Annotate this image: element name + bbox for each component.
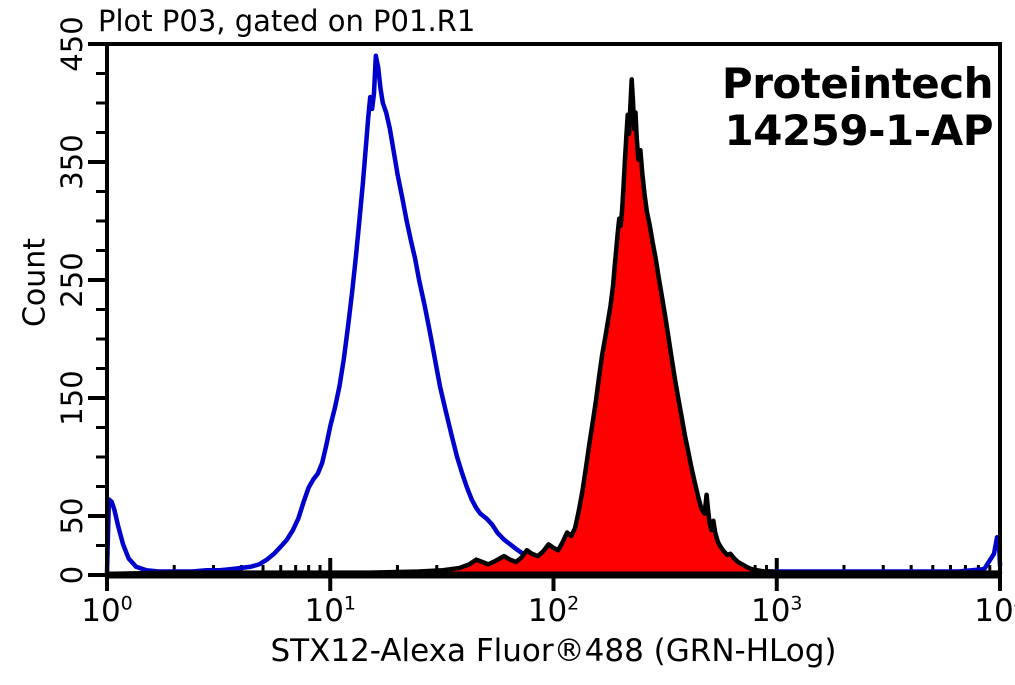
y-tick-label: 50 bbox=[55, 481, 89, 551]
y-tick-label: 450 bbox=[55, 9, 89, 79]
y-axis-label: Count bbox=[18, 223, 53, 343]
x-tick-label: 100 bbox=[62, 593, 152, 629]
x-tick-label: 101 bbox=[285, 593, 375, 629]
annotation-line-catalog: 14259-1-AP bbox=[722, 107, 993, 154]
annotation-line-brand: Proteintech bbox=[722, 60, 993, 107]
product-annotation: Proteintech 14259-1-AP bbox=[722, 60, 993, 154]
y-tick-label: 250 bbox=[55, 245, 89, 315]
flow-cytometry-histogram: Plot P03, gated on P01.R1 Count STX12-Al… bbox=[0, 0, 1015, 685]
x-tick-label: 103 bbox=[732, 593, 822, 629]
x-axis-label: STX12-Alexa Fluor®488 (GRN-HLog) bbox=[107, 633, 1000, 669]
y-tick-label: 350 bbox=[55, 127, 89, 197]
page-title: Plot P03, gated on P01.R1 bbox=[98, 4, 475, 38]
x-tick-label: 102 bbox=[509, 593, 599, 629]
x-tick-label: 104 bbox=[955, 593, 1015, 629]
y-tick-label: 150 bbox=[55, 363, 89, 433]
